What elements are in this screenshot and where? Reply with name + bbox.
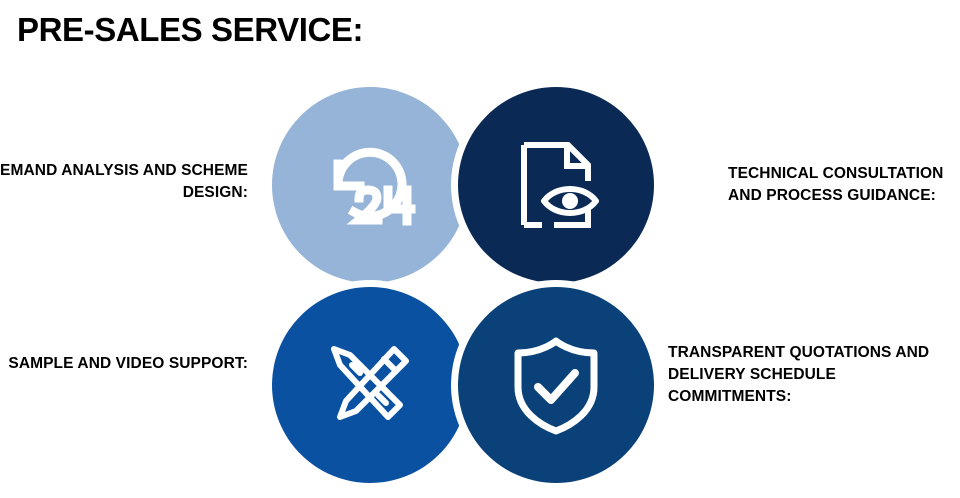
- circle-demand-analysis[interactable]: [272, 87, 468, 283]
- page-title: PRE-SALES SERVICE:: [17, 12, 363, 48]
- label-technical-consultation: TECHNICAL CONSULTATION AND PROCESS GUIDA…: [728, 163, 954, 207]
- circle-transparent-quotations[interactable]: [458, 287, 654, 483]
- circle-technical-consultation[interactable]: [458, 87, 654, 283]
- pen-ruler-cross-icon: [320, 335, 420, 435]
- document-eye-icon: [508, 137, 604, 233]
- shield-check-icon: [512, 335, 600, 435]
- label-sample-video-support: SAMPLE AND VIDEO SUPPORT:: [0, 353, 248, 375]
- circle-sample-video-support[interactable]: [272, 287, 468, 483]
- label-transparent-quotations: TRANSPARENT QUOTATIONS AND DELIVERY SCHE…: [668, 342, 960, 408]
- label-demand-analysis: DEMAND ANALYSIS AND SCHEME DESIGN:: [0, 160, 248, 204]
- clock-24-rotate-icon: [316, 139, 424, 231]
- four-circle-diagram: [272, 87, 664, 483]
